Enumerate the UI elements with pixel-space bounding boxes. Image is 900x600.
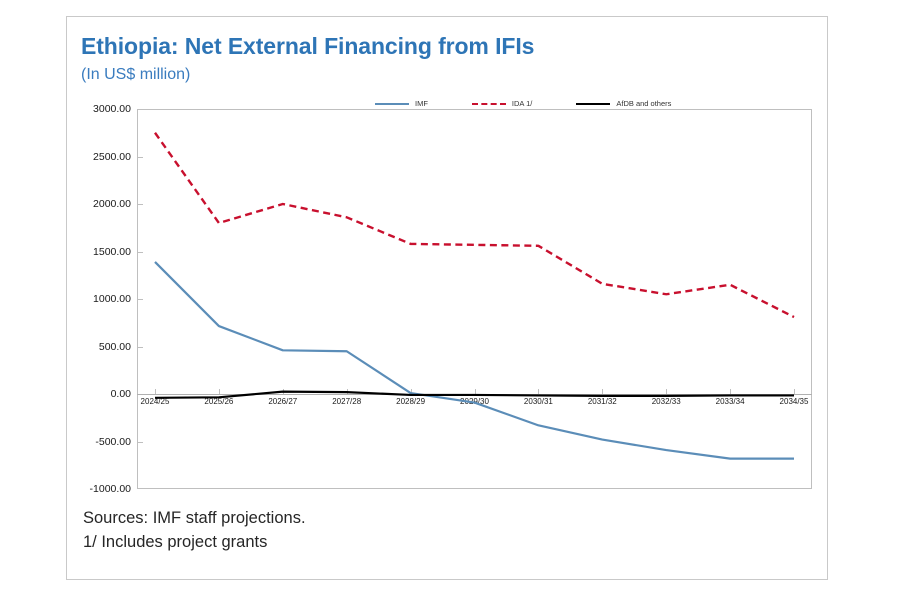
series-line-imf bbox=[155, 262, 794, 459]
series-line-afdb-and-others bbox=[155, 392, 794, 398]
sources-line-2: 1/ Includes project grants bbox=[83, 531, 306, 555]
sources-line-1: Sources: IMF staff projections. bbox=[83, 507, 306, 531]
y-axis-tick-label: 1500.00 bbox=[93, 246, 131, 258]
y-axis-tick-label: 500.00 bbox=[99, 341, 131, 353]
y-axis-tick-label: 2000.00 bbox=[93, 198, 131, 210]
y-axis-tick-label: 2500.00 bbox=[93, 151, 131, 163]
sources-note: Sources: IMF staff projections. 1/ Inclu… bbox=[83, 507, 306, 555]
chart-legend: IMF IDA 1/ AfDB and others bbox=[375, 99, 671, 108]
y-axis-tick-label: 1000.00 bbox=[93, 293, 131, 305]
page-title: Ethiopia: Net External Financing from IF… bbox=[81, 33, 534, 60]
legend-label-afdb: AfDB and others bbox=[616, 99, 671, 108]
legend-label-imf: IMF bbox=[415, 99, 428, 108]
series-line-ida-1 bbox=[155, 133, 794, 317]
chart-subtitle: (In US$ million) bbox=[81, 66, 190, 84]
chart-series-svg bbox=[137, 109, 812, 489]
legend-item-imf: IMF bbox=[375, 99, 428, 108]
legend-swatch-imf bbox=[375, 103, 409, 105]
y-axis-tick-label: -1000.00 bbox=[90, 483, 131, 495]
legend-label-ida: IDA 1/ bbox=[512, 99, 532, 108]
plot-area: 3000.002500.002000.001500.001000.00500.0… bbox=[137, 109, 812, 489]
figure-frame: Ethiopia: Net External Financing from IF… bbox=[66, 16, 828, 580]
legend-swatch-ida bbox=[472, 103, 506, 105]
y-axis-tick-label: 0.00 bbox=[111, 388, 131, 400]
y-axis-tick-label: -500.00 bbox=[95, 436, 131, 448]
legend-item-afdb: AfDB and others bbox=[576, 99, 671, 108]
legend-item-ida: IDA 1/ bbox=[472, 99, 532, 108]
y-axis-tick-label: 3000.00 bbox=[93, 103, 131, 115]
legend-swatch-afdb bbox=[576, 103, 610, 105]
